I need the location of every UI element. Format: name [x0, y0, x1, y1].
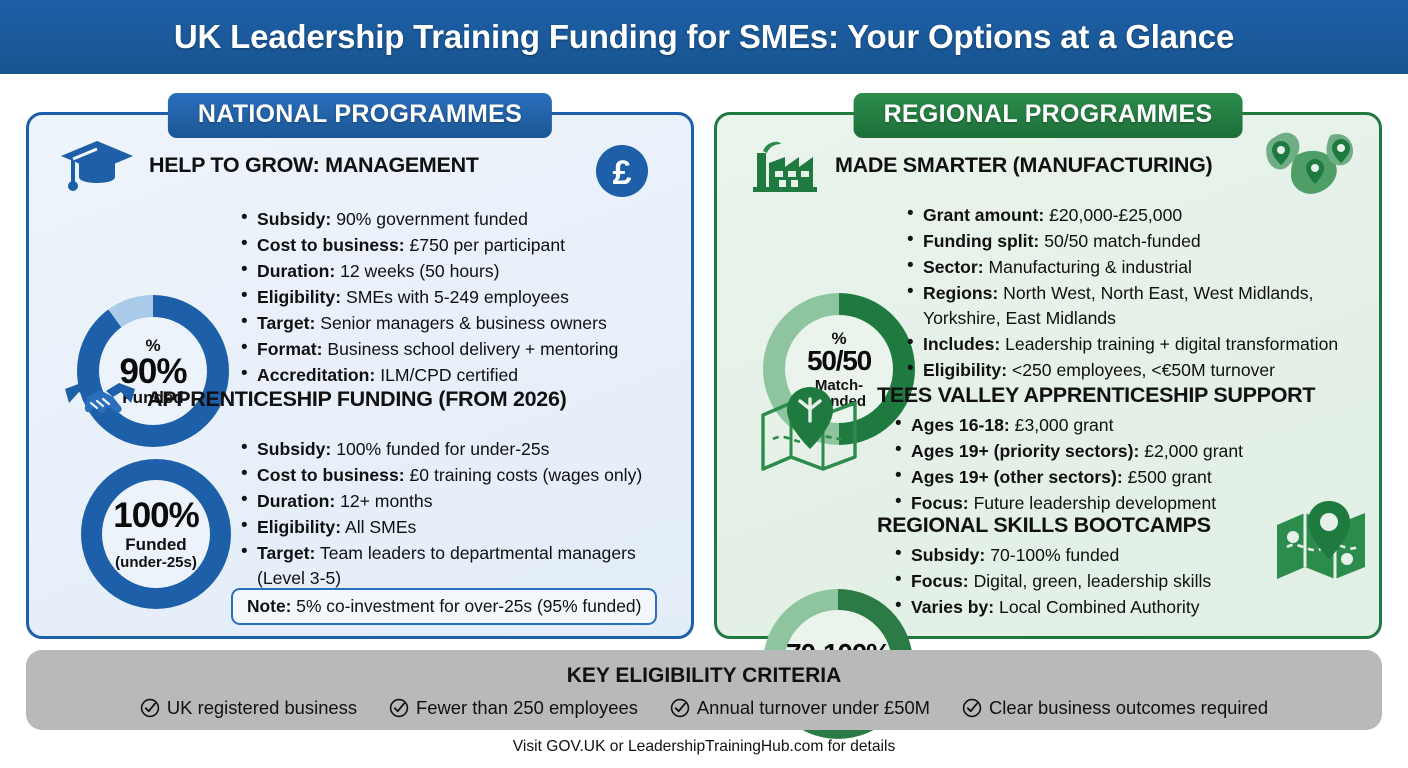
- list-item: Focus: Digital, green, leadership skills: [893, 569, 1363, 594]
- check-circle-icon: [670, 698, 690, 718]
- list-item: Target: Senior managers & business owner…: [239, 311, 689, 336]
- panel-national-programmes: NATIONAL PROGRAMMES HELP TO GROW: MANAGE…: [26, 112, 694, 639]
- key-eligibility-bar: KEY ELIGIBILITY CRITERIA UK registered b…: [26, 650, 1382, 730]
- section-title-tees-valley: TEES VALLEY APPRENTICESHIP SUPPORT: [877, 383, 1315, 408]
- criterion-item: UK registered business: [140, 697, 357, 719]
- bullet-list-skills-bootcamps: Subsidy: 70-100% funded Focus: Digital, …: [893, 543, 1363, 621]
- list-item: Target: Team leaders to departmental man…: [239, 541, 681, 590]
- infographic-page: UK Leadership Training Funding for SMEs:…: [0, 0, 1408, 768]
- list-item: Ages 19+ (other sectors): £500 grant: [893, 465, 1363, 490]
- list-item: Eligibility: SMEs with 5-249 employees: [239, 285, 689, 310]
- check-circle-icon: [140, 698, 160, 718]
- check-circle-icon: [389, 698, 409, 718]
- list-item: Ages 19+ (priority sectors): £2,000 gran…: [893, 439, 1363, 464]
- donut-value: 100%: [113, 498, 199, 533]
- factory-eco-icon: [745, 137, 821, 197]
- panel-badge-national: NATIONAL PROGRAMMES: [168, 93, 552, 138]
- section-title-help-to-grow: HELP TO GROW: MANAGEMENT: [149, 153, 479, 178]
- map-pin-icon: [755, 387, 865, 473]
- donut-sublabel-2: (under-25s): [115, 555, 197, 570]
- bullet-list-apprenticeship: Subsidy: 100% funded for under-25s Cost …: [239, 437, 681, 592]
- section-title-made-smarter: MADE SMARTER (MANUFACTURING): [835, 153, 1212, 178]
- list-item: Regions: North West, North East, West Mi…: [905, 281, 1375, 330]
- list-item: Accreditation: ILM/CPD certified: [239, 363, 689, 388]
- note-box-apprenticeship: Note: 5% co-investment for over-25s (95%…: [231, 588, 657, 625]
- criterion-label: UK registered business: [167, 697, 357, 719]
- criterion-item: Clear business outcomes required: [962, 697, 1268, 719]
- donut-chart-100-funded: 100% Funded (under-25s): [81, 459, 231, 609]
- list-item: Duration: 12+ months: [239, 489, 681, 514]
- donut-sublabel: Funded: [125, 536, 186, 553]
- note-label: Note:: [247, 596, 291, 616]
- panel-badge-regional: REGIONAL PROGRAMMES: [854, 93, 1243, 138]
- list-item: Subsidy: 70-100% funded: [893, 543, 1363, 568]
- graduation-cap-icon: [59, 137, 135, 193]
- uk-regions-map-pins-icon: [1253, 127, 1361, 205]
- criterion-label: Clear business outcomes required: [989, 697, 1268, 719]
- list-item: Format: Business school delivery + mento…: [239, 337, 689, 362]
- criteria-list: UK registered business Fewer than 250 em…: [140, 697, 1268, 719]
- criterion-label: Fewer than 250 employees: [416, 697, 638, 719]
- criterion-item: Annual turnover under £50M: [670, 697, 930, 719]
- donut-pct-symbol: %: [831, 330, 846, 347]
- list-item: Eligibility: All SMEs: [239, 515, 681, 540]
- list-item: Subsidy: 90% government funded: [239, 207, 689, 232]
- page-title: UK Leadership Training Funding for SMEs:…: [174, 18, 1234, 56]
- section-title-skills-bootcamps: REGIONAL SKILLS BOOTCAMPS: [877, 513, 1211, 538]
- visit-footnote: Visit GOV.UK or LeadershipTrainingHub.co…: [0, 738, 1408, 756]
- panel-regional-programmes: REGIONAL PROGRAMMES MADE SMARTER (MANUFA…: [714, 112, 1382, 639]
- list-item: Subsidy: 100% funded for under-25s: [239, 437, 681, 462]
- donut-value: 50/50: [807, 347, 871, 375]
- section-title-apprenticeship-funding: APPRENTICESHIP FUNDING (FROM 2026): [147, 387, 566, 412]
- title-bar: UK Leadership Training Funding for SMEs:…: [0, 0, 1408, 74]
- list-item: Cost to business: £750 per participant: [239, 233, 689, 258]
- bullet-list-help-to-grow: Subsidy: 90% government funded Cost to b…: [239, 207, 689, 389]
- pound-badge-icon: £: [594, 143, 650, 199]
- list-item: Cost to business: £0 training costs (wag…: [239, 463, 681, 488]
- check-circle-icon: [962, 698, 982, 718]
- list-item: Funding split: 50/50 match-funded: [905, 229, 1375, 254]
- criterion-item: Fewer than 250 employees: [389, 697, 638, 719]
- list-item: Duration: 12 weeks (50 hours): [239, 259, 689, 284]
- list-item: Varies by: Local Combined Authority: [893, 595, 1363, 620]
- bullet-list-made-smarter: Grant amount: £20,000-£25,000 Funding sp…: [905, 203, 1375, 384]
- footer-title: KEY ELIGIBILITY CRITERIA: [567, 664, 842, 688]
- handshake-icon: [61, 377, 139, 423]
- svg-text:£: £: [613, 154, 632, 192]
- list-item: Sector: Manufacturing & industrial: [905, 255, 1375, 280]
- list-item: Includes: Leadership training + digital …: [905, 332, 1375, 357]
- note-text: 5% co-investment for over-25s (95% funde…: [296, 596, 641, 616]
- list-item: Ages 16-18: £3,000 grant: [893, 413, 1363, 438]
- list-item: Eligibility: <250 employees, <€50M turno…: [905, 358, 1375, 383]
- list-item: Grant amount: £20,000-£25,000: [905, 203, 1375, 228]
- criterion-label: Annual turnover under £50M: [697, 697, 930, 719]
- donut-chart-90-funded: % 90% Funded: [77, 295, 229, 447]
- donut-pct-symbol: %: [145, 337, 160, 354]
